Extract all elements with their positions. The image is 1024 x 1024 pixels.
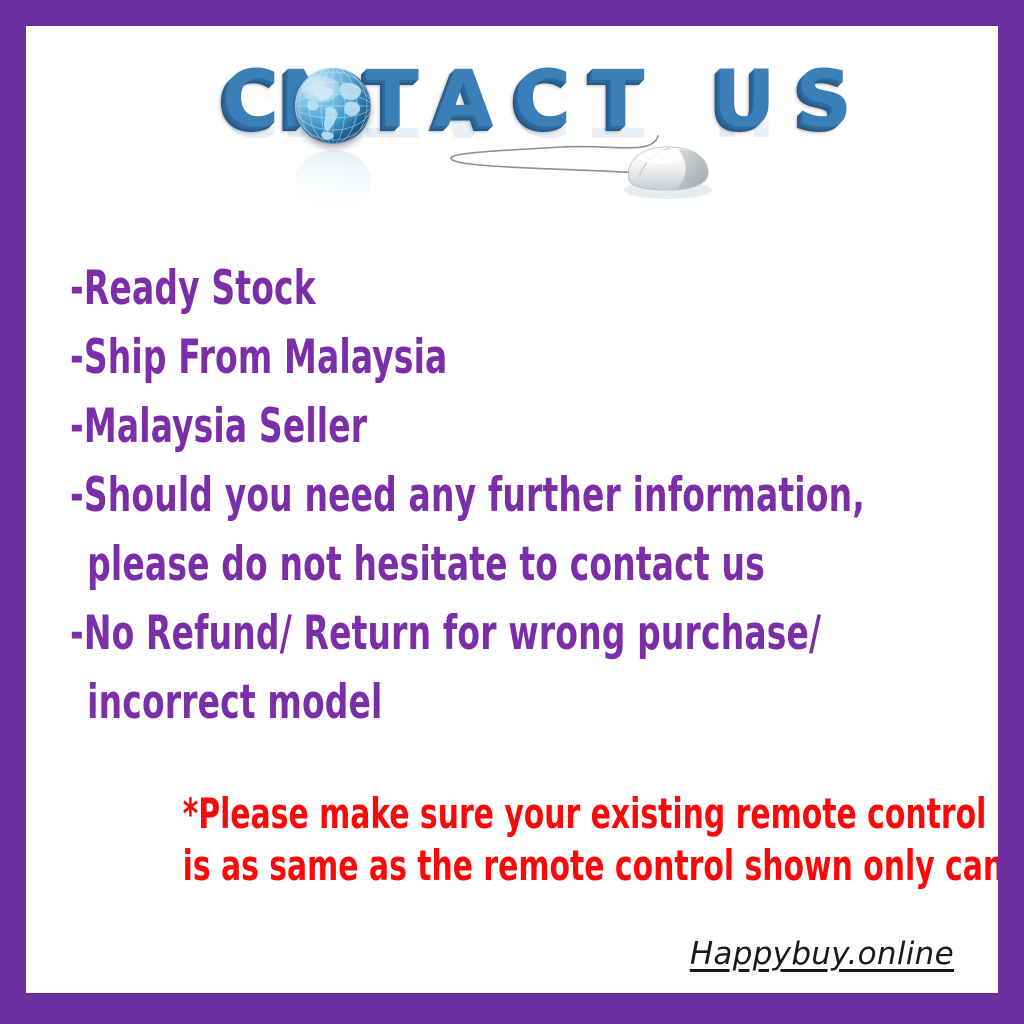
header-graphic: CNTACT US CNTACT US <box>26 54 998 254</box>
globe-icon <box>295 68 371 144</box>
bullet-no-refund-continued: incorrect model <box>70 668 772 737</box>
contact-us-poster: CNTACT US CNTACT US <box>0 0 1024 1024</box>
warning-notice: *Please make sure your existing remote c… <box>86 788 998 892</box>
store-signature: Happybuy.online <box>690 934 954 974</box>
bullet-ready-stock: -Ready Stock <box>70 254 772 323</box>
header-stage: CNTACT US CNTACT US <box>222 54 802 254</box>
bullet-further-information-continued: please do not hesitate to contact us <box>70 530 772 599</box>
page-title-first-letter: C <box>222 55 280 145</box>
bullet-ship-from-malaysia: -Ship From Malaysia <box>70 323 772 392</box>
bullet-further-information: -Should you need any further information… <box>70 461 772 530</box>
computer-mouse-icon <box>402 128 712 208</box>
globe-reflection <box>295 150 371 216</box>
warning-line-2: is as same as the remote control shown o… <box>183 840 910 892</box>
bullet-no-refund: -No Refund/ Return for wrong purchase/ <box>70 599 772 668</box>
poster-card: CNTACT US CNTACT US <box>26 26 998 993</box>
warning-line-1: *Please make sure your existing remote c… <box>183 788 910 840</box>
bullet-malaysia-seller: -Malaysia Seller <box>70 392 772 461</box>
info-bullet-list: -Ready Stock -Ship From Malaysia -Malays… <box>70 254 970 737</box>
